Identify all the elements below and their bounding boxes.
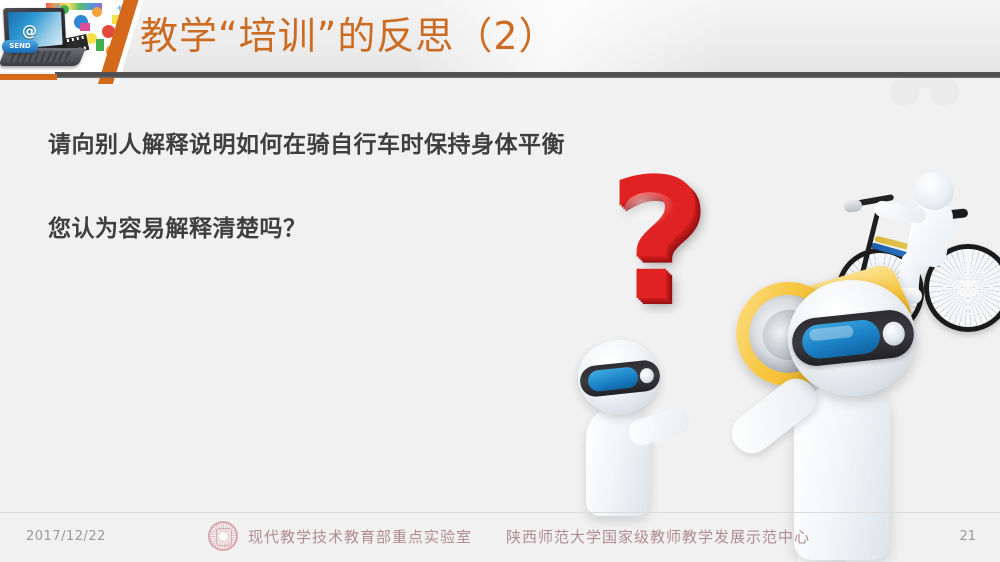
at-icon: @ (22, 22, 37, 40)
body-line-1: 请向别人解释说明如何在骑自行车时保持身体平衡 (48, 128, 668, 162)
footer-center-name: 陕西师范大学国家级教师教学发展示范中心 (506, 526, 810, 547)
slide-header: + + + @ SEND 教学“培训”的反思（2） (0, 0, 1000, 78)
seal-core (216, 528, 232, 546)
large-figure-visor-glass (801, 318, 882, 360)
send-button-icon: SEND (2, 40, 38, 53)
footer-date: 2017/12/22 (26, 529, 106, 544)
question-mark-glyph: ? (608, 156, 705, 324)
header-rule-accent (0, 74, 57, 80)
page-title: 教学“培训”的反思（2） (140, 8, 558, 64)
figure-with-helmet-large (770, 280, 970, 560)
small-figure-helmet-lamp (639, 367, 654, 383)
footer-divider (0, 512, 1000, 513)
small-figure-visor-glass (587, 366, 639, 392)
bicycle-grip (843, 199, 863, 214)
send-label: SEND (2, 42, 38, 50)
footer-page-number: 21 (959, 529, 976, 544)
university-seal-icon (208, 521, 238, 551)
large-figure-helmet-lamp (882, 321, 906, 347)
presentation-slide: 陕西师范大学 + + + (0, 0, 1000, 562)
rider-head (914, 172, 954, 210)
footer-lab-name: 现代教学技术教育部重点实验室 (248, 526, 472, 547)
slide-artwork: ? (560, 170, 1000, 560)
header-rule (55, 72, 1000, 78)
